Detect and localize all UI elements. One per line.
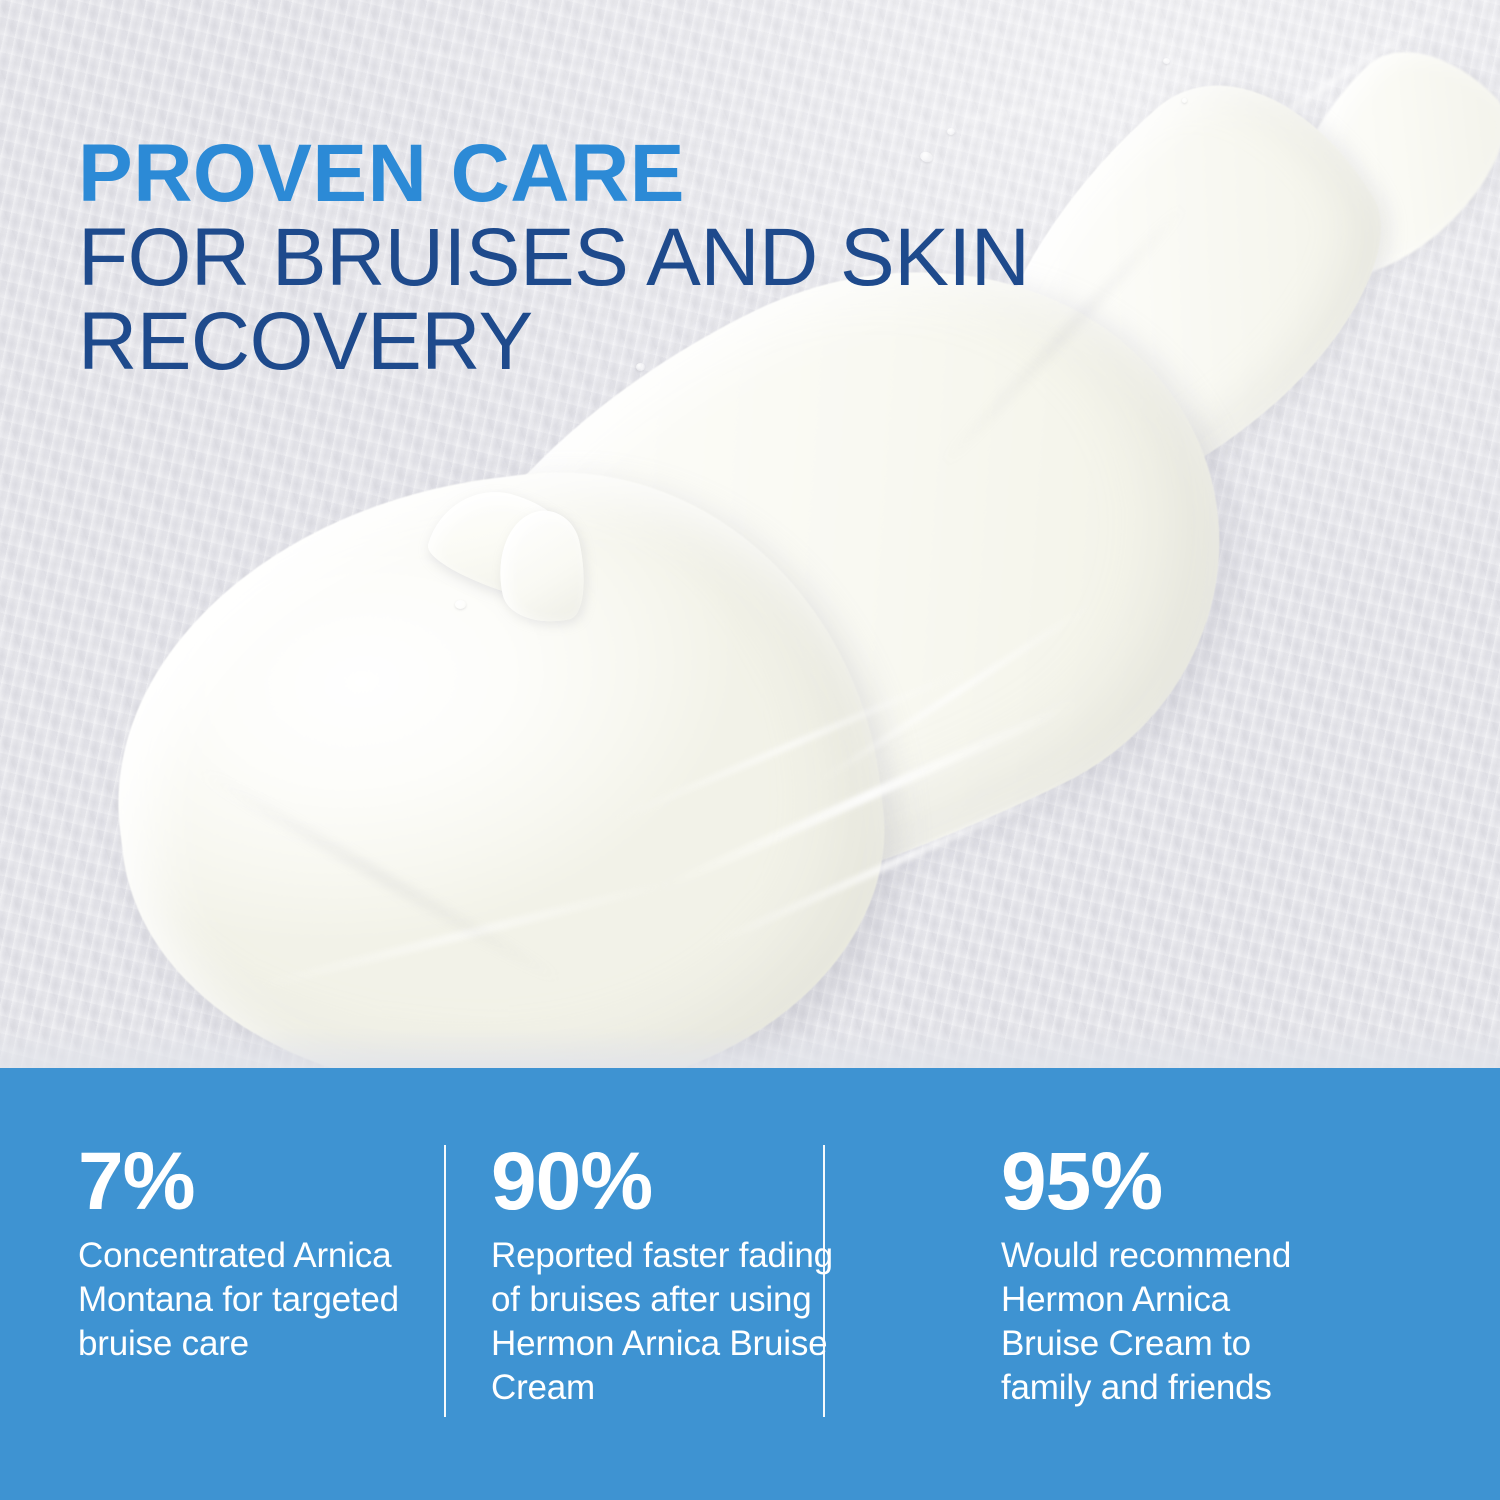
stat-description: Would recommend Hermon Arnica Bruise Cre… [1001,1234,1325,1410]
stat-description: Reported faster fading of bruises after … [491,1234,865,1410]
headline-block: PROVEN CARE FOR BRUISES AND SKIN RECOVER… [78,132,1258,384]
stat-value: 95% [1001,1140,1325,1224]
stat-column: 7% Concentrated Arnica Montana for targe… [78,1140,446,1366]
headline-line-two: FOR BRUISES AND SKIN [78,216,1258,300]
stat-column: 95% Would recommend Hermon Arnica Bruise… [901,1140,1361,1410]
stats-row: 7% Concentrated Arnica Montana for targe… [78,1140,1428,1480]
headline-line-three: RECOVERY [78,300,1258,384]
headline-line-accent: PROVEN CARE [78,132,1258,216]
stat-description: Concentrated Arnica Montana for targeted… [78,1234,410,1366]
stat-value: 90% [491,1140,865,1224]
stat-divider [823,1145,825,1417]
stat-value: 7% [78,1140,410,1224]
stat-column: 90% Reported faster fading of bruises af… [446,1140,901,1410]
stats-band: 7% Concentrated Arnica Montana for targe… [0,1068,1500,1500]
product-marketing-poster: PROVEN CARE FOR BRUISES AND SKIN RECOVER… [0,0,1500,1500]
